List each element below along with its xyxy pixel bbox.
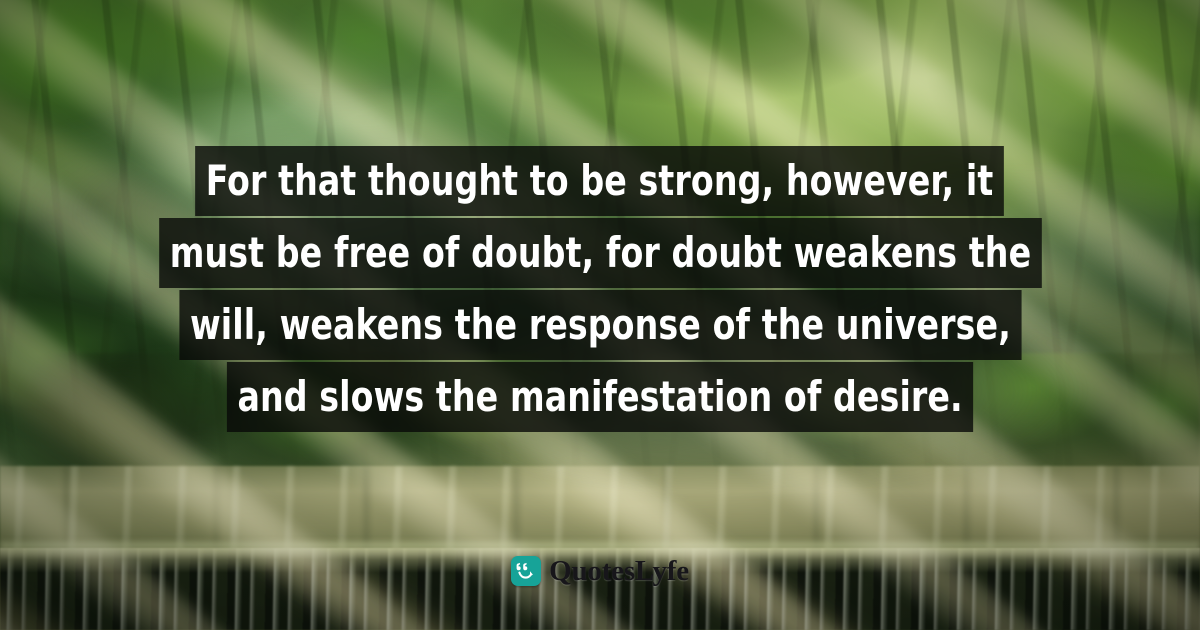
- quote-card: For that thought to be strong, however, …: [0, 0, 1200, 630]
- quote-mark-icon: [511, 556, 541, 586]
- brand-watermark[interactable]: QuotesLyfe: [0, 556, 1200, 586]
- brand-name: QuotesLyfe: [549, 556, 689, 586]
- quote-line: will, weakens the response of the univer…: [179, 290, 1021, 360]
- quote-text-block: For that thought to be strong, however, …: [0, 146, 1200, 432]
- quote-line: must be free of doubt, for doubt weakens…: [159, 218, 1042, 288]
- quote-line: and slows the manifestation of desire.: [227, 362, 973, 432]
- quote-line: For that thought to be strong, however, …: [196, 146, 1005, 216]
